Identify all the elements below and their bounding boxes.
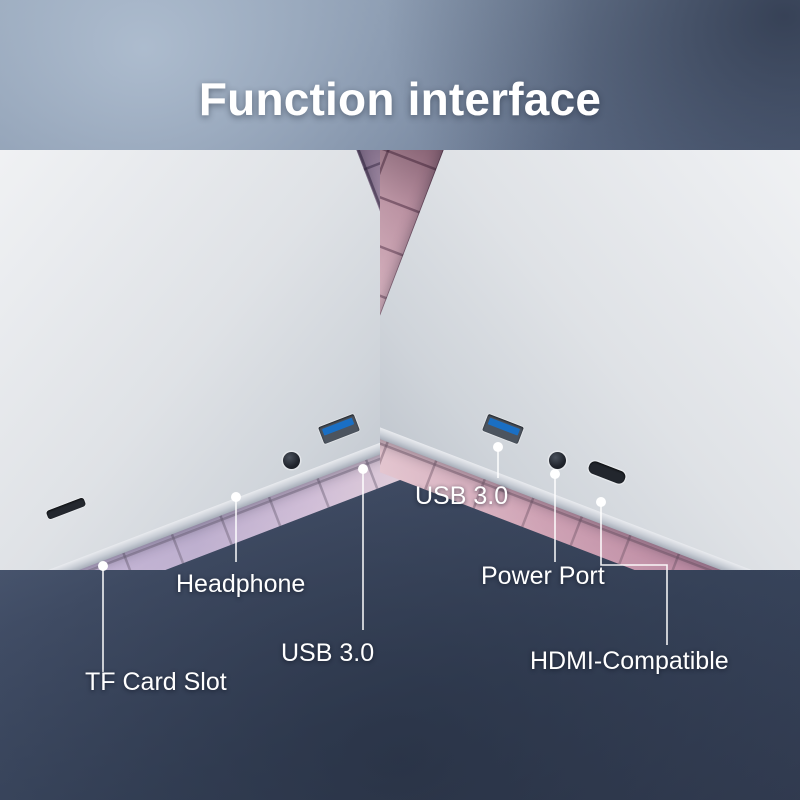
callout-label-usb-left: USB 3.0 — [281, 639, 374, 668]
callout-label-hdmi: HDMI-Compatible — [530, 647, 729, 676]
power-port — [549, 452, 566, 469]
callout-label-tf-card-slot: TF Card Slot — [85, 668, 227, 697]
product-feature-image: Function interface TF Card Slot Headphon… — [0, 0, 800, 800]
callout-label-power-port: Power Port — [481, 562, 605, 591]
callout-label-usb-right: USB 3.0 — [415, 482, 508, 511]
headphone-jack-port — [283, 452, 300, 469]
page-title: Function interface — [0, 72, 800, 126]
callout-label-headphone: Headphone — [176, 570, 305, 599]
